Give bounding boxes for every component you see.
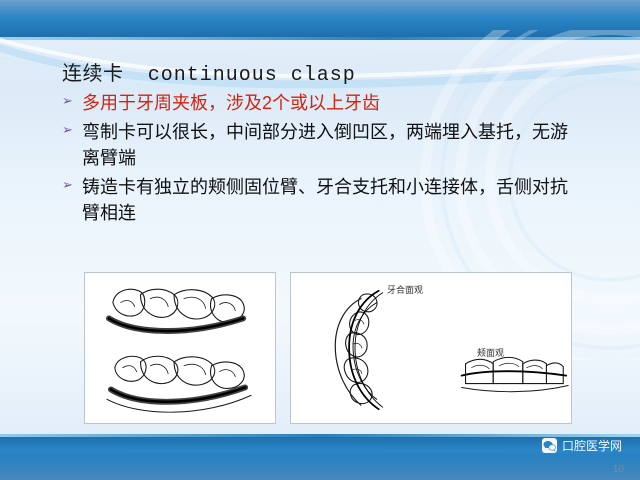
- slide: 连续卡 continuous clasp ➢ 多用于牙周夹板，涉及2个或以上牙齿…: [0, 0, 640, 480]
- top-band-sheen: [0, 0, 640, 18]
- wechat-logo: [542, 438, 557, 453]
- page-title: 连续卡 continuous clasp: [62, 57, 356, 87]
- list-item: ➢ 弯制卡可以很长，中间部分进入倒凹区，两端埋入基托，无游离臂端: [62, 119, 572, 171]
- bullet-list: ➢ 多用于牙周夹板，涉及2个或以上牙齿 ➢ 弯制卡可以很长，中间部分进入倒凹区，…: [62, 90, 572, 229]
- page-number: 10: [613, 464, 624, 475]
- figure-right-dental-drawing: 牙合面观 颊面观: [290, 272, 572, 424]
- bullet-marker-icon: ➢: [62, 90, 82, 107]
- list-item: ➢ 多用于牙周夹板，涉及2个或以上牙齿: [62, 90, 572, 116]
- bullet-marker-icon: ➢: [62, 119, 82, 136]
- bottom-band-glow: [0, 456, 640, 480]
- left-figure-svg: [85, 273, 275, 423]
- bullet-text: 铸造卡有独立的颊侧固位臂、牙合支托和小连接体，舌侧对抗臂相连: [82, 174, 572, 226]
- title-chinese: 连续卡: [62, 63, 124, 85]
- watermark: 口腔医学网: [542, 437, 622, 454]
- figure-left-dental-drawing: [84, 272, 276, 424]
- right-figure-svg: [291, 273, 571, 423]
- bullet-marker-icon: ➢: [62, 174, 82, 191]
- bullet-text: 多用于牙周夹板，涉及2个或以上牙齿: [82, 90, 380, 116]
- list-item: ➢ 铸造卡有独立的颊侧固位臂、牙合支托和小连接体，舌侧对抗臂相连: [62, 174, 572, 226]
- watermark-text: 口腔医学网: [562, 437, 622, 454]
- bullet-text: 弯制卡可以很长，中间部分进入倒凹区，两端埋入基托，无游离臂端: [82, 119, 572, 171]
- top-blue-band: [0, 0, 640, 40]
- figure-label-occlusal: 牙合面观: [387, 283, 423, 296]
- figure-label-buccal: 颊面观: [477, 346, 504, 359]
- title-english: continuous clasp: [148, 64, 356, 87]
